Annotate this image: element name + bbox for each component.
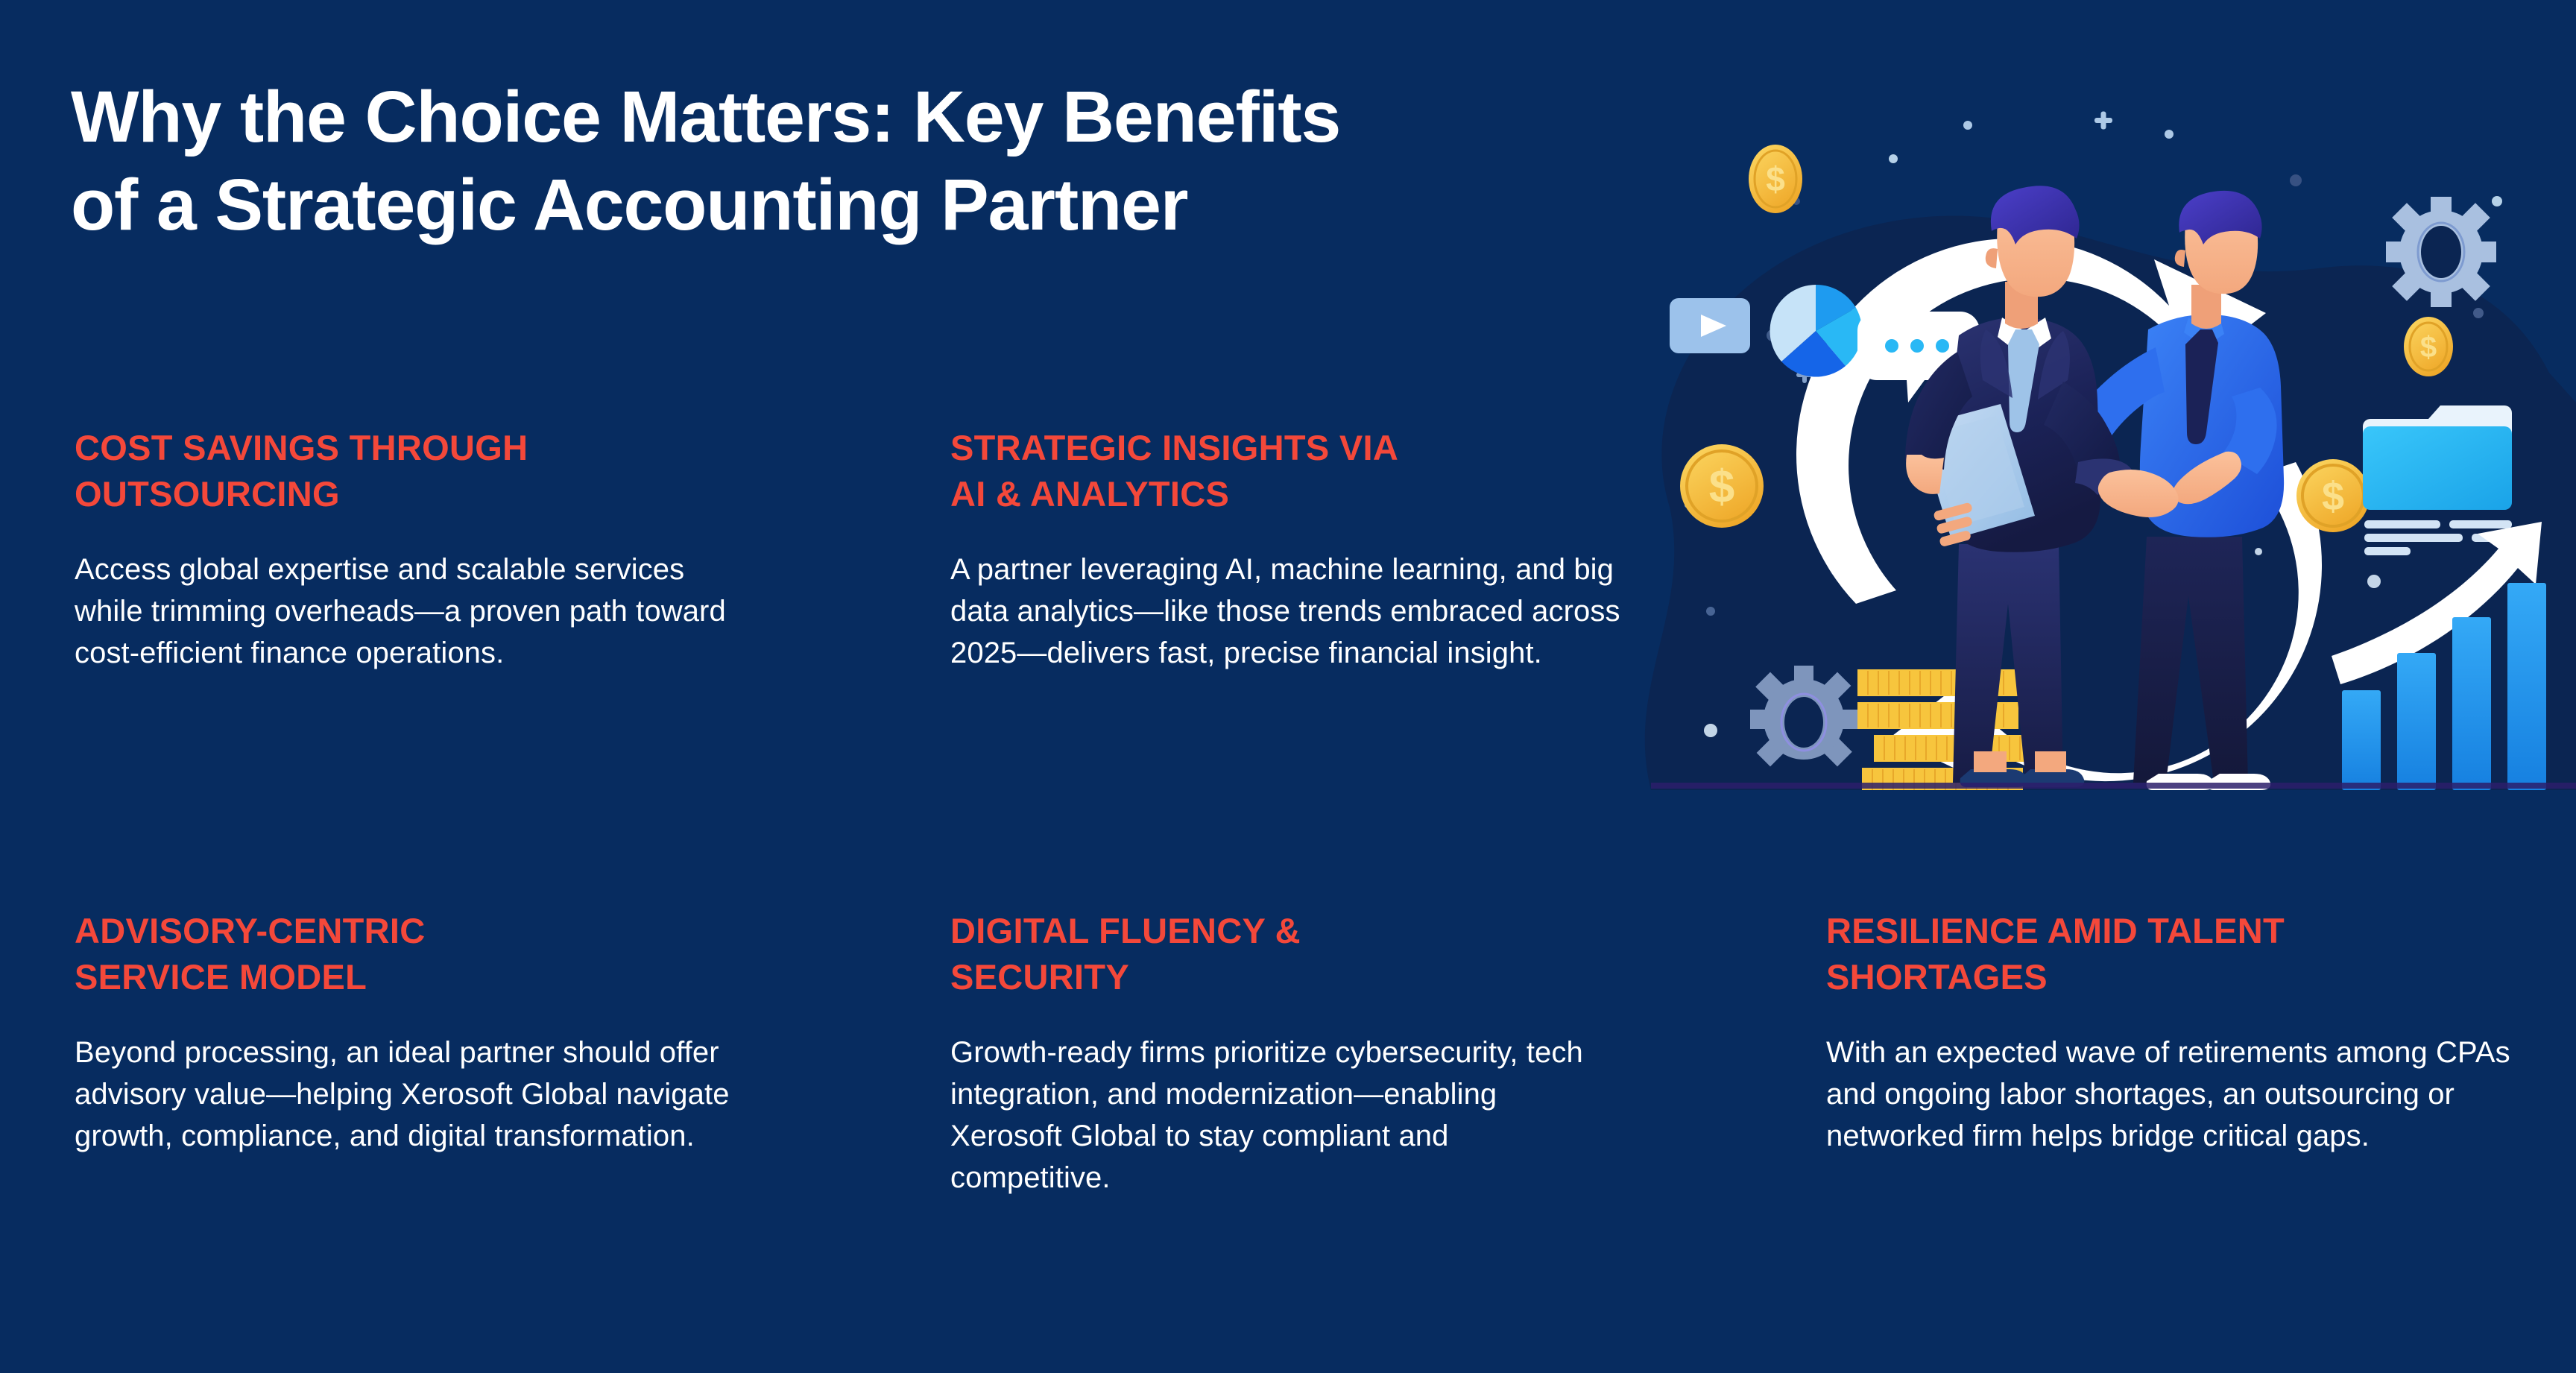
- benefit-heading: RESILIENCE AMID TALENT SHORTAGES: [1826, 908, 2512, 1000]
- benefit-card-advisory-centric: ADVISORY-CENTRIC SERVICE MODEL Beyond pr…: [75, 908, 745, 1157]
- benefit-card-resilience-talent: RESILIENCE AMID TALENT SHORTAGES With an…: [1826, 908, 2512, 1157]
- benefit-body: With an expected wave of retirements amo…: [1826, 1032, 2512, 1157]
- benefit-card-strategic-insights: STRATEGIC INSIGHTS VIA AI & ANALYTICS A …: [950, 425, 1621, 674]
- svg-text:$: $: [2322, 474, 2344, 519]
- benefit-card-cost-savings: COST SAVINGS THROUGH OUTSOURCING Access …: [75, 425, 745, 674]
- svg-text:$: $: [1709, 461, 1734, 513]
- benefit-heading: DIGITAL FLUENCY & SECURITY: [950, 908, 1606, 1000]
- benefit-body: A partner leveraging AI, machine learnin…: [950, 549, 1621, 674]
- gold-coin-dollar: $: [1680, 444, 1764, 528]
- gear-icon: [2386, 197, 2496, 307]
- pie-chart-icon: [1770, 285, 1863, 377]
- gold-coin-dollar: $: [2404, 317, 2453, 376]
- benefit-heading: STRATEGIC INSIGHTS VIA AI & ANALYTICS: [950, 425, 1621, 517]
- benefit-card-digital-fluency: DIGITAL FLUENCY & SECURITY Growth-ready …: [950, 908, 1606, 1199]
- infographic-page: $ $ $ $: [0, 0, 2576, 1373]
- play-button-icon: [1670, 298, 1750, 353]
- svg-text:$: $: [2420, 331, 2437, 364]
- benefit-body: Access global expertise and scalable ser…: [75, 549, 745, 674]
- benefit-heading: COST SAVINGS THROUGH OUTSOURCING: [75, 425, 745, 517]
- gold-coin-dollar: $: [2296, 459, 2370, 532]
- benefit-body: Growth-ready firms prioritize cybersecur…: [950, 1032, 1606, 1199]
- page-title: Why the Choice Matters: Key Benefits of …: [71, 73, 2009, 250]
- benefit-heading: ADVISORY-CENTRIC SERVICE MODEL: [75, 908, 745, 1000]
- gear-icon: [1750, 666, 1857, 766]
- benefit-body: Beyond processing, an ideal partner shou…: [75, 1032, 745, 1157]
